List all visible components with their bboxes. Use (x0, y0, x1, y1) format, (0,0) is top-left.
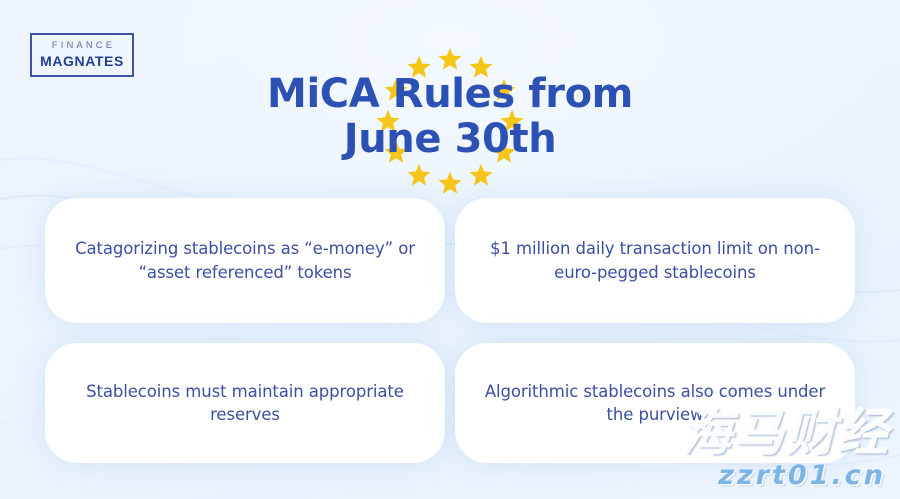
page-title-line-2: June 30th (0, 117, 900, 162)
eu-star-icon (437, 46, 463, 72)
page-title: MiCA Rules from June 30th (0, 72, 900, 162)
eu-star-icon (406, 162, 432, 188)
eu-star-icon (437, 170, 463, 196)
eu-star-icon (468, 162, 494, 188)
rule-card-text: Stablecoins must maintain appropriate re… (71, 380, 419, 427)
watermark-url-text: zzrt01.cn (718, 460, 886, 491)
rule-card-text: Catagorizing stablecoins as “e-money” or… (71, 237, 419, 284)
title-block: MiCA Rules from June 30th (0, 46, 900, 196)
rule-card[interactable]: Stablecoins must maintain appropriate re… (45, 343, 445, 463)
slide-canvas: FINANCE MAGNATES MiCA Rules from June 30… (0, 0, 900, 499)
page-title-line-1: MiCA Rules from (0, 72, 900, 117)
rule-card[interactable]: $1 million daily transaction limit on no… (455, 198, 855, 323)
rule-card[interactable]: Catagorizing stablecoins as “e-money” or… (45, 198, 445, 323)
rule-card-text: $1 million daily transaction limit on no… (481, 237, 829, 284)
rules-card-grid: Catagorizing stablecoins as “e-money” or… (45, 198, 855, 463)
rule-card[interactable]: Algorithmic stablecoins also comes under… (455, 343, 855, 463)
rule-card-text: Algorithmic stablecoins also comes under… (481, 380, 829, 427)
